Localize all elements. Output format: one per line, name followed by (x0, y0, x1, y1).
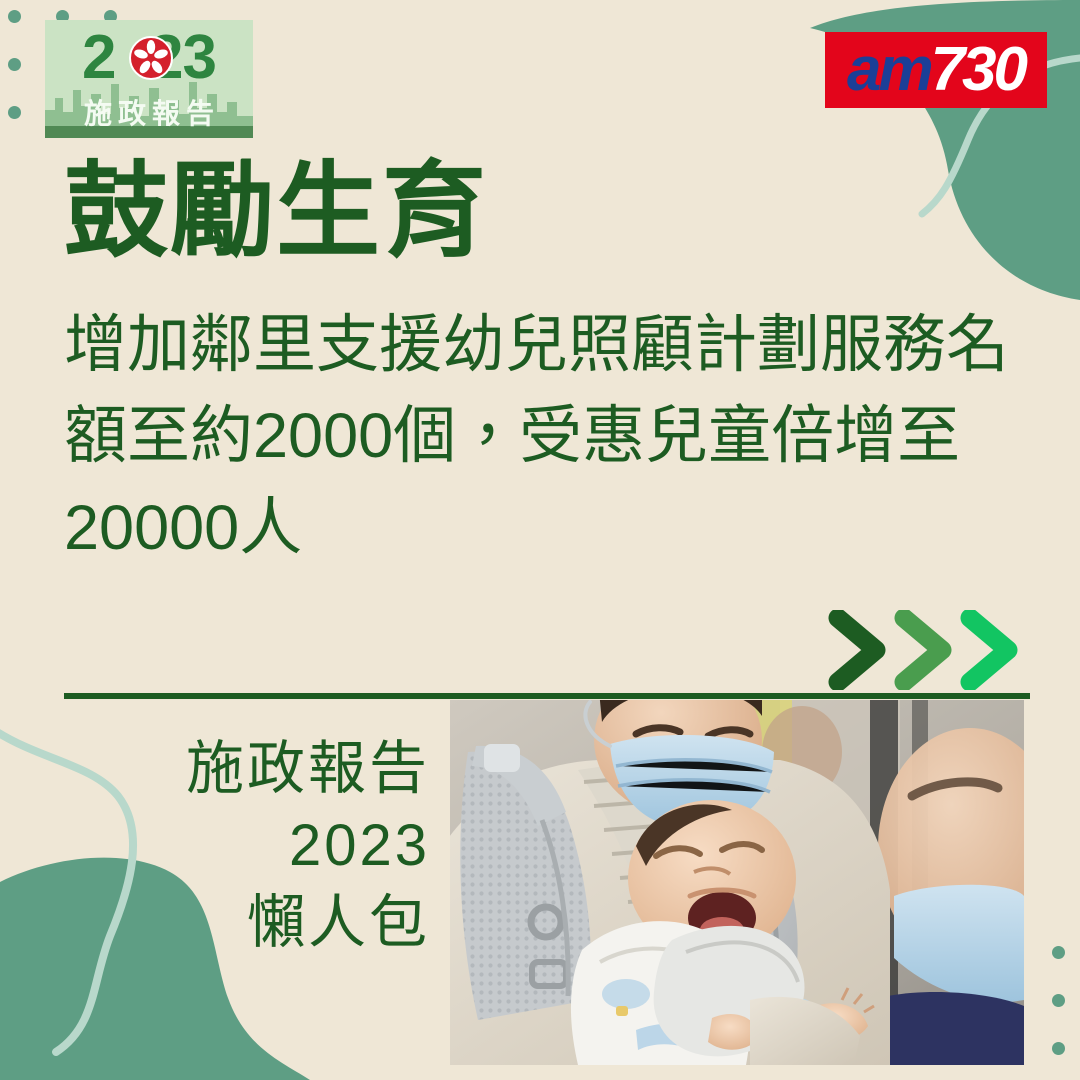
series-caption: 施政報告 2023 懶人包 (120, 730, 430, 961)
dot (1052, 994, 1065, 1007)
am730-logo[interactable]: am730 (825, 32, 1047, 108)
infographic-card: 2023 施政報告 am730 鼓勵生育 增加鄰里支援幼兒照顧計劃服務名額至約2… (0, 0, 1080, 1080)
photo-mother-with-baby (450, 700, 1024, 1065)
series-caption-line-3: 懶人包 (120, 884, 430, 961)
chevron-right-icon-1 (826, 610, 888, 690)
series-caption-line-2: 2023 (120, 807, 430, 884)
horizontal-divider (64, 693, 1030, 699)
curve-bottom-left (0, 730, 133, 1052)
page-title: 鼓勵生育 (64, 156, 488, 268)
policy-address-2023-badge: 2023 施政報告 (45, 20, 253, 138)
am730-logo-am: am (847, 39, 931, 101)
chevron-arrows (826, 610, 1032, 690)
am730-logo-number: 730 (931, 39, 1025, 101)
dot (1052, 946, 1065, 959)
chevron-right-icon-3 (958, 610, 1020, 690)
dot (8, 106, 21, 119)
badge-subtitle: 施政報告 (45, 92, 253, 132)
dot (8, 58, 21, 71)
series-caption-line-1: 施政報告 (120, 730, 430, 807)
body-text: 增加鄰里支援幼兒照顧計劃服務名額至約2000個，受惠兒童倍增至20000人 (64, 300, 1044, 574)
dot (8, 10, 21, 23)
chevron-right-icon-2 (892, 610, 954, 690)
hong-kong-bauhinia-emblem (129, 36, 173, 80)
dot (1052, 1042, 1065, 1055)
